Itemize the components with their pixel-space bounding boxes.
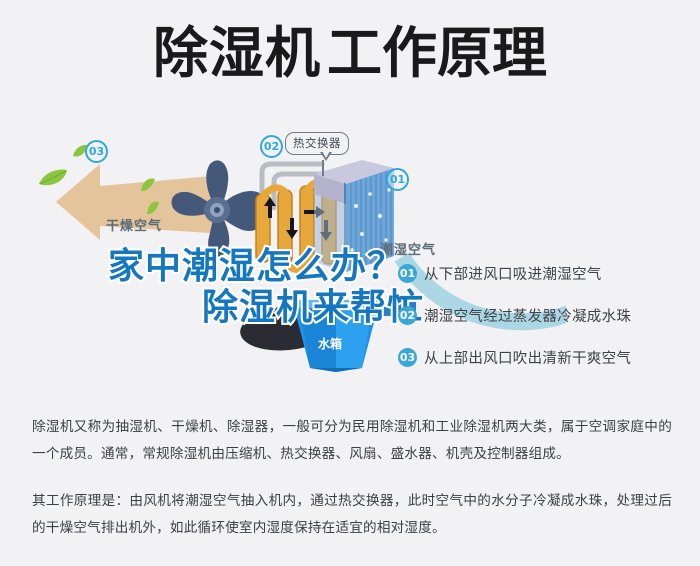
step-list: 01 从下部进风口吸进潮湿空气 02 潮湿空气经过蒸发器冷凝成水珠 03 从上部… [398,252,698,378]
step-text-01: 从下部进风口吸进潮湿空气 [424,263,602,284]
leaf-icon [38,168,68,188]
figure-badge-01: 01 [386,168,409,191]
label-water-tank: 水箱 [318,335,342,352]
title-segment-a: 除湿机 [153,21,321,85]
title-segment-b: 工作原理 [327,21,547,85]
figure-badge-03: 03 [85,140,108,163]
leaf-icon [140,176,156,192]
page-title: 除湿机工作原理 [0,18,700,88]
step-text-03: 从上部出风口吹出清新干爽空气 [424,347,631,368]
step-text-02: 潮湿空气经过蒸发器冷凝成水珠 [424,305,631,326]
title-text: 除湿机工作原理 [0,18,700,88]
body-copy: 除湿机又称为抽湿机、干燥机、除湿器，一般可分为民用除湿机和工业除湿机两大类，属于… [32,414,672,542]
list-item: 01 从下部进风口吸进潮湿空气 [398,252,698,294]
list-item: 02 潮湿空气经过蒸发器冷凝成水珠 [398,294,698,336]
step-badge-03: 03 [398,348,417,367]
body-paragraph-2: 其工作原理是：由风机将潮湿空气抽入机内，通过热交换器，此时空气中的水分子冷凝成水… [32,488,672,542]
callout-heat-exchanger: 热交换器 [285,132,349,155]
step-badge-01: 01 [398,264,417,283]
step-badge-02: 02 [398,306,417,325]
label-dry-air: 干燥空气 [106,215,162,234]
body-paragraph-1: 除湿机又称为抽湿机、干燥机、除湿器，一般可分为民用除湿机和工业除湿机两大类，属于… [32,414,672,468]
infographic-page: 除湿机工作原理 [0,0,700,566]
figure-badge-02: 02 [260,135,283,158]
list-item: 03 从上部出风口吹出清新干爽空气 [398,336,698,378]
callout-stem-icon [322,160,324,176]
